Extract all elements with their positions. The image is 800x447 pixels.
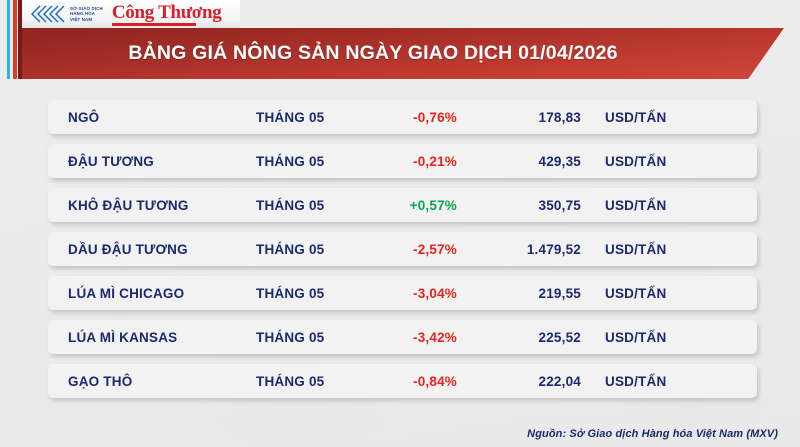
price-unit: USD/TẤN [605, 198, 666, 213]
price-unit: USD/TẤN [605, 154, 666, 169]
contract-month: THÁNG 05 [256, 374, 324, 389]
page-title: BẢNG GIÁ NÔNG SẢN NGÀY GIAO DỊCH 01/04/2… [128, 42, 617, 65]
mxv-logo: SỞ GIAO DỊCH HÀNG HÓA VIỆT NAM [30, 4, 103, 24]
price-value: 1.479,52 [478, 242, 581, 257]
change-percent: -3,42% [358, 330, 457, 345]
mxv-logo-line-3: VIỆT NAM [70, 17, 103, 22]
price-value: 178,83 [478, 110, 581, 125]
price-unit: USD/TẤN [605, 286, 666, 301]
table-row: LÚA MÌ KANSAS THÁNG 05 -3,42% 225,52 USD… [48, 320, 757, 354]
stripe-red [13, 0, 17, 79]
price-value: 222,04 [478, 374, 581, 389]
price-board-page: SỞ GIAO DỊCH HÀNG HÓA VIỆT NAM Công Thươ… [0, 0, 800, 447]
cong-thuong-title: Công Thương [112, 3, 222, 22]
contract-month: THÁNG 05 [256, 286, 324, 301]
cong-thuong-underline [112, 23, 196, 26]
commodity-name: GẠO THÔ [68, 374, 132, 389]
change-percent: -2,57% [358, 242, 457, 257]
stripe-cyan [7, 0, 10, 79]
price-value: 219,55 [478, 286, 581, 301]
commodity-name: DẦU ĐẬU TƯƠNG [68, 242, 188, 257]
change-percent: -0,21% [358, 154, 457, 169]
left-accent-stripes [0, 0, 24, 79]
mxv-logo-text: SỞ GIAO DỊCH HÀNG HÓA VIỆT NAM [70, 6, 103, 22]
commodity-name: LÚA MÌ CHICAGO [68, 286, 184, 301]
contract-month: THÁNG 05 [256, 110, 324, 125]
price-unit: USD/TẤN [605, 330, 666, 345]
commodity-name: NGÔ [68, 110, 99, 125]
table-row: DẦU ĐẬU TƯƠNG THÁNG 05 -2,57% 1.479,52 U… [48, 232, 757, 266]
source-attribution: Nguồn: Sở Giao dịch Hàng hóa Việt Nam (M… [527, 428, 778, 440]
header-banner: BẢNG GIÁ NÔNG SẢN NGÀY GIAO DỊCH 01/04/2… [22, 28, 784, 79]
table-row: KHÔ ĐẬU TƯƠNG THÁNG 05 +0,57% 350,75 USD… [48, 188, 757, 222]
price-value: 225,52 [478, 330, 581, 345]
table-row: LÚA MÌ CHICAGO THÁNG 05 -3,04% 219,55 US… [48, 276, 757, 310]
change-percent: -3,04% [358, 286, 457, 301]
commodity-name: ĐẬU TƯƠNG [68, 154, 154, 169]
commodity-name: KHÔ ĐẬU TƯƠNG [68, 198, 189, 213]
commodity-name: LÚA MÌ KANSAS [68, 330, 177, 345]
table-row: NGÔ THÁNG 05 -0,76% 178,83 USD/TẤN [48, 100, 757, 134]
price-value: 429,35 [478, 154, 581, 169]
table-row: ĐẬU TƯƠNG THÁNG 05 -0,21% 429,35 USD/TẤN [48, 144, 757, 178]
contract-month: THÁNG 05 [256, 154, 324, 169]
logo-bar: SỞ GIAO DỊCH HÀNG HÓA VIỆT NAM Công Thươ… [22, 0, 240, 28]
contract-month: THÁNG 05 [256, 242, 324, 257]
change-percent: +0,57% [358, 198, 457, 213]
price-value: 350,75 [478, 198, 581, 213]
cong-thuong-logo: Công Thương [112, 3, 222, 26]
change-percent: -0,84% [358, 374, 457, 389]
change-percent: -0,76% [358, 110, 457, 125]
price-unit: USD/TẤN [605, 110, 666, 125]
price-table: NGÔ THÁNG 05 -0,76% 178,83 USD/TẤN ĐẬU T… [48, 100, 757, 398]
table-row: GẠO THÔ THÁNG 05 -0,84% 222,04 USD/TẤN [48, 364, 757, 398]
contract-month: THÁNG 05 [256, 198, 324, 213]
price-unit: USD/TẤN [605, 374, 666, 389]
mxv-chevron-icon [30, 4, 66, 24]
contract-month: THÁNG 05 [256, 330, 324, 345]
price-unit: USD/TẤN [605, 242, 666, 257]
